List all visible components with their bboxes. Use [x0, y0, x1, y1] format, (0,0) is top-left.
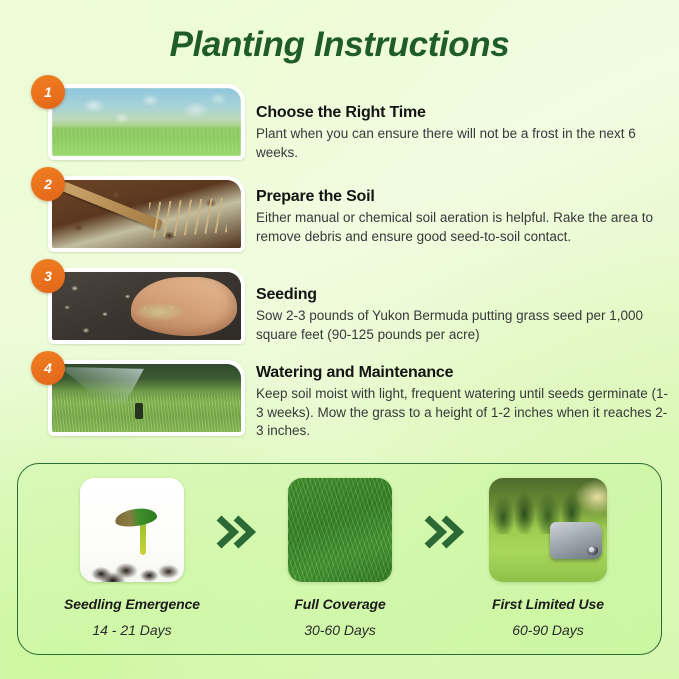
step-badge-3: 3 [31, 259, 65, 293]
step-thumbnail-wrap-3: 3 [48, 268, 245, 344]
step-text-2: Prepare the Soil Either manual or chemic… [256, 188, 668, 246]
step-text-4: Watering and Maintenance Keep soil moist… [256, 364, 668, 441]
step-body-4: Keep soil moist with light, frequent wat… [256, 385, 668, 441]
sprinkler-head-icon [135, 403, 143, 419]
timeline-label-3: First Limited Use [460, 596, 636, 612]
step-body-1: Plant when you can ensure there will not… [256, 125, 668, 162]
rake-on-soil-photo [52, 180, 241, 248]
timeline-days-1: 14 - 21 Days [44, 622, 220, 638]
timeline-stage-3: First Limited Use 60-90 Days [460, 478, 636, 638]
timeline-label-2: Full Coverage [252, 596, 428, 612]
sprouting-seedling-photo [80, 478, 184, 582]
step-badge-2: 2 [31, 167, 65, 201]
lawn-mower-photo [489, 478, 607, 582]
mower-body [550, 522, 602, 559]
step-image-2 [48, 176, 245, 252]
step-body-3: Sow 2-3 pounds of Yukon Bermuda putting … [256, 307, 668, 344]
timeline-days-3: 60-90 Days [460, 622, 636, 638]
step-image-1 [48, 84, 245, 160]
step-thumbnail-wrap-4: 4 [48, 360, 245, 436]
dense-green-grass-photo [288, 478, 392, 582]
step-heading-2: Prepare the Soil [256, 188, 668, 206]
step-image-3 [48, 268, 245, 344]
step-badge-1: 1 [31, 75, 65, 109]
timeline-days-2: 30-60 Days [252, 622, 428, 638]
step-thumbnail-wrap-1: 1 [48, 84, 245, 160]
planting-instructions-infographic: Planting Instructions 1 Choose the Right… [0, 0, 679, 679]
timeline-panel: Seedling Emergence 14 - 21 Days Full Cov… [17, 463, 662, 655]
step-heading-3: Seeding [256, 286, 668, 304]
step-text-1: Choose the Right Time Plant when you can… [256, 104, 668, 162]
sprinkler-on-lawn-photo [52, 364, 241, 432]
seeds-pile [135, 303, 184, 321]
rake-tines [149, 198, 227, 239]
timeline-label-1: Seedling Emergence [44, 596, 220, 612]
timeline-stage-2: Full Coverage 30-60 Days [252, 478, 428, 638]
lawn-texture [52, 393, 241, 432]
timeline-stage-1: Seedling Emergence 14 - 21 Days [44, 478, 220, 638]
mower-wheel [587, 546, 598, 554]
grassy-field-sky-photo [52, 88, 241, 156]
step-body-2: Either manual or chemical soil aeration … [256, 209, 668, 246]
soil-rocks [84, 542, 180, 582]
step-image-4 [48, 360, 245, 436]
hand-spreading-seed-photo [52, 272, 241, 340]
step-badge-4: 4 [31, 351, 65, 385]
sprout-head [114, 506, 158, 528]
step-heading-4: Watering and Maintenance [256, 364, 668, 382]
step-thumbnail-wrap-2: 2 [48, 176, 245, 252]
step-text-3: Seeding Sow 2-3 pounds of Yukon Bermuda … [256, 286, 668, 344]
step-heading-1: Choose the Right Time [256, 104, 668, 122]
page-title: Planting Instructions [0, 24, 679, 66]
